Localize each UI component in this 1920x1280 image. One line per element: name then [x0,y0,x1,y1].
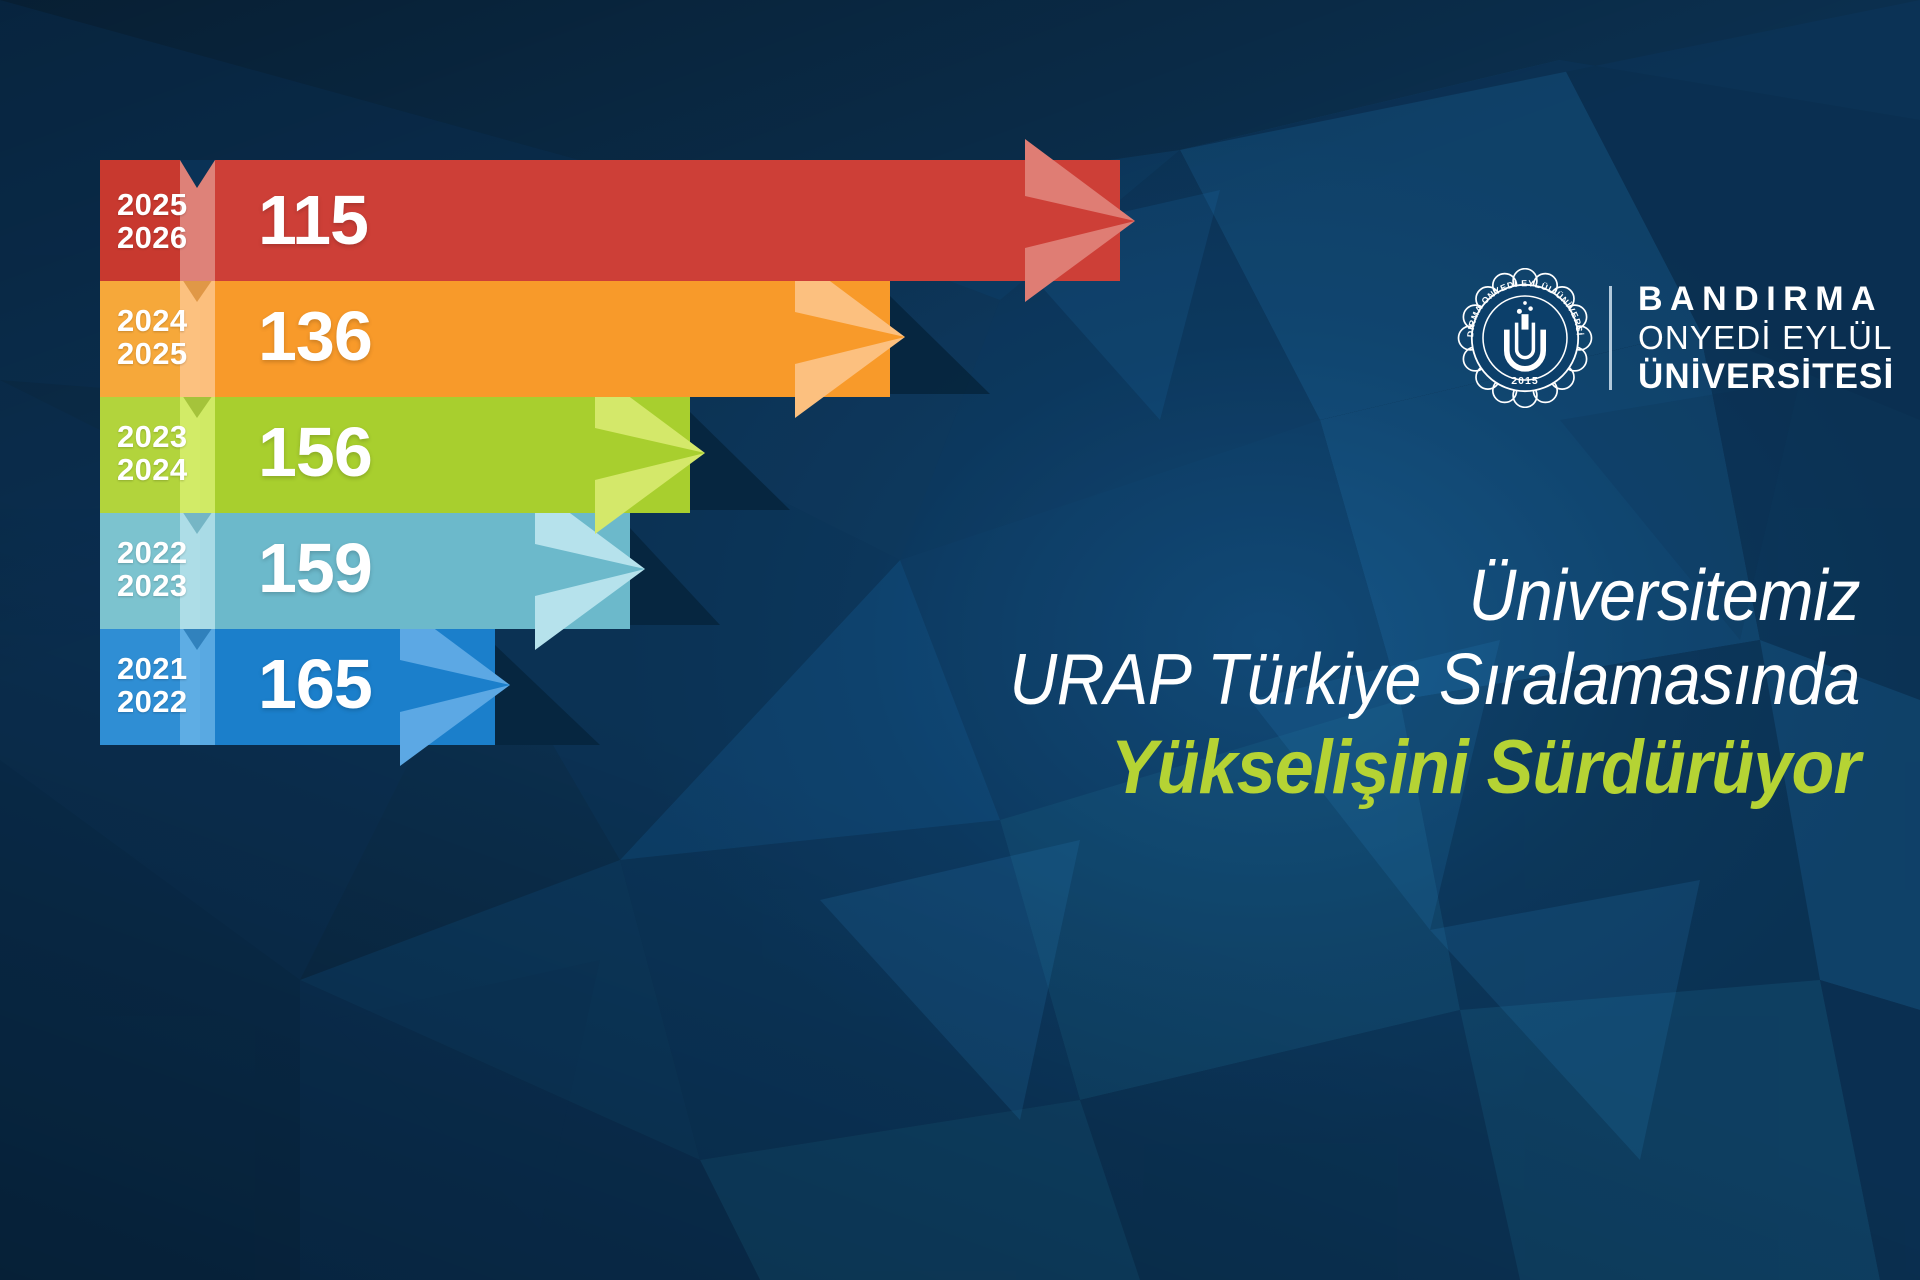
headline-line-2: URAP Türkiye Sıralamasında [793,644,1860,716]
headline-line-3: Yükselişini Sürdürüyor [793,730,1860,806]
svg-text:2015: 2015 [1511,375,1539,387]
brand-lockup: BANDIRMA ONYEDİ EYLÜL ÜNİVERSİTESİ 2015 … [1455,268,1894,408]
brand-divider-rule [1609,286,1612,390]
headline-line-1: Üniversitemiz [793,560,1860,632]
university-crest-icon: BANDIRMA ONYEDİ EYLÜL ÜNİVERSİTESİ 2015 [1455,268,1595,408]
brand-line-1: BANDIRMA [1638,280,1894,319]
brand-line-3: ÜNİVERSİTESİ [1638,357,1894,397]
brand-line-2: ONYEDİ EYLÜL [1638,319,1894,357]
brand-name-text: BANDIRMA ONYEDİ EYLÜL ÜNİVERSİTESİ [1638,280,1894,397]
headline-block: Üniversitemiz URAP Türkiye Sıralamasında… [700,560,1860,806]
infographic-canvas: 2025 2026 115 2024 2025 136 2023 2024 15… [0,0,1920,1280]
